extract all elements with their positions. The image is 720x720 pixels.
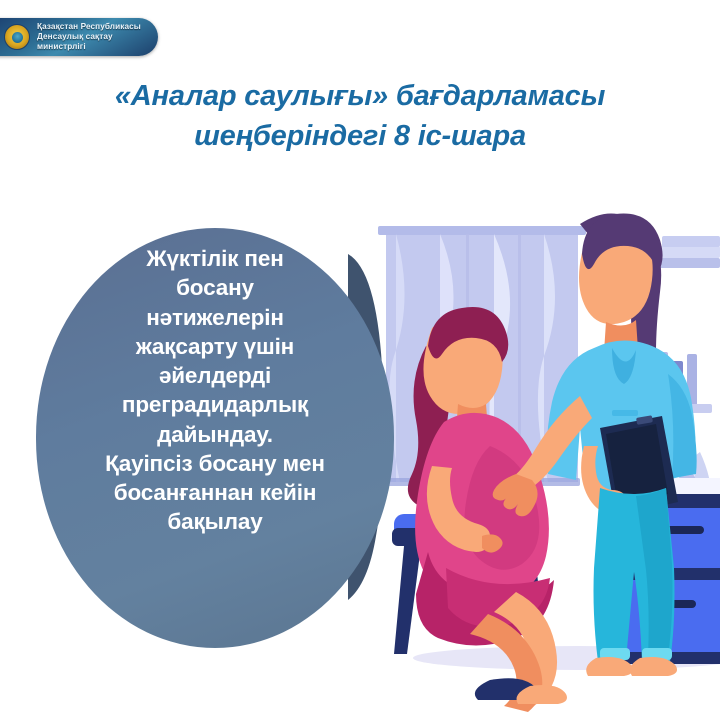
- page-title-line-1: «Аналар саулығы» бағдарламасы: [0, 76, 720, 116]
- card-line-2: босану: [52, 273, 378, 302]
- card-line-7: дайындау.: [52, 420, 378, 449]
- ministry-line-2: Денсаулық сақтау министрлігі: [37, 32, 158, 51]
- page-title: «Аналар саулығы» бағдарламасы шеңберінде…: [0, 76, 720, 156]
- pregnant-woman-with-nurse-illustration: [348, 196, 720, 720]
- ministry-header-badge: Қазақстан Республикасы Денсаулық сақтау …: [0, 18, 158, 56]
- card-line-9: босанғаннан кейін: [52, 478, 378, 507]
- card-line-8: Қауіпсіз босану мен: [52, 449, 378, 478]
- card-line-3: нәтижелерін: [52, 303, 378, 332]
- card-line-10: бақылау: [52, 507, 378, 536]
- card-line-6: преградидарлық: [52, 390, 378, 419]
- page-title-line-2: шеңберіндегі 8 іс-шара: [0, 116, 720, 156]
- poster-root: Қазақстан Республикасы Денсаулық сақтау …: [0, 0, 720, 720]
- card-line-4: жақсарту үшін: [52, 332, 378, 361]
- ministry-line-1: Қазақстан Республикасы: [37, 22, 158, 32]
- card-line-5: әйелдерді: [52, 361, 378, 390]
- card-line-1: Жүктілік пен: [52, 244, 378, 273]
- card-description: Жүктілік пен босану нәтижелерін жақсарту…: [52, 244, 378, 537]
- kazakhstan-coat-of-arms-icon: [4, 24, 30, 50]
- ministry-name: Қазақстан Республикасы Денсаулық сақтау …: [37, 22, 158, 51]
